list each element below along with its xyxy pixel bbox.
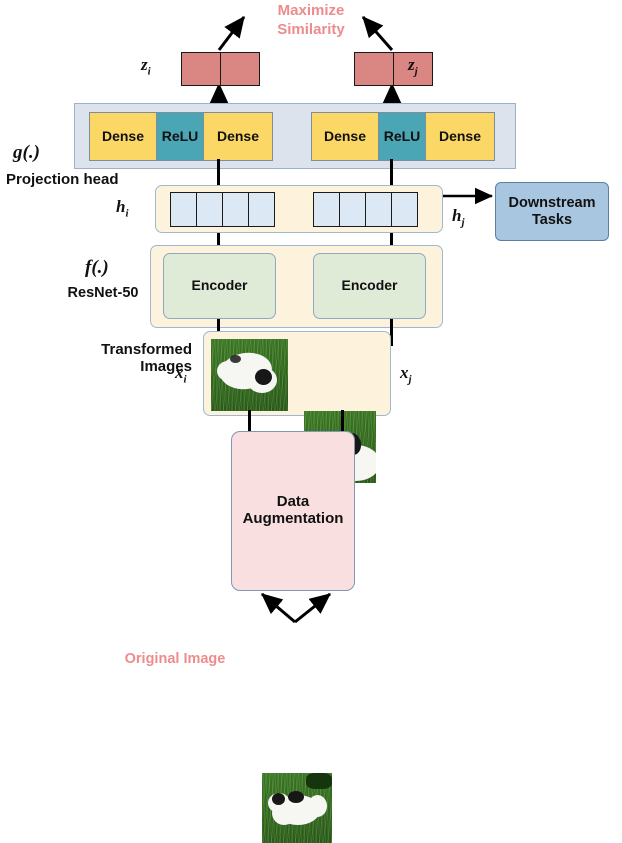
data-augmentation-line1: Data: [277, 494, 310, 511]
xj-label: xj: [400, 363, 412, 385]
zi-vector: [181, 52, 260, 86]
zi-label: zi: [141, 55, 151, 77]
transformed-image-left: [211, 339, 288, 411]
projection-head-left: Dense ReLU Dense: [89, 112, 273, 161]
projection-head-text: Projection head: [6, 171, 119, 188]
encoder-right-label: Encoder: [341, 278, 397, 294]
downstream-tasks-box[interactable]: Downstream Tasks: [495, 182, 609, 241]
relu-label: ReLU: [384, 129, 421, 145]
encoder-right[interactable]: Encoder: [313, 253, 426, 319]
original-image-label: Original Image: [103, 650, 247, 668]
xi-label: xi: [175, 363, 187, 385]
original-image-text: Original Image: [125, 651, 226, 667]
hj-cell: [392, 192, 418, 227]
encoder-left-label: Encoder: [191, 278, 247, 294]
zi-symbol: z: [141, 55, 148, 74]
hj-cell: [340, 192, 366, 227]
hj-subscript: j: [461, 216, 464, 228]
zj-label: zj: [408, 55, 418, 77]
hi-cell: [170, 192, 197, 227]
resnet-label: ResNet-50: [58, 285, 148, 301]
hj-vector: [313, 192, 418, 227]
original-image: [262, 773, 332, 843]
relu-layer-left[interactable]: ReLU: [157, 112, 204, 161]
encoder-fn-label: f(.): [85, 257, 109, 279]
xj-symbol: x: [400, 363, 409, 382]
data-augmentation-line2: Augmentation: [243, 511, 344, 528]
dense-layer-right-2[interactable]: Dense: [426, 112, 495, 161]
projection-head-right: Dense ReLU Dense: [311, 112, 495, 161]
dog-ear-patch: [272, 793, 285, 805]
hi-subscript: i: [125, 207, 128, 219]
foliage-top-right: [306, 773, 332, 789]
hi-label: hi: [116, 197, 129, 219]
zj-cell: [354, 52, 394, 86]
relu-layer-right[interactable]: ReLU: [379, 112, 426, 161]
maximize-similarity-line1: Maximize: [236, 2, 386, 21]
transformed-images-label: Transformed Images: [46, 342, 192, 376]
dog-tail: [308, 795, 327, 817]
dense-layer-left-2[interactable]: Dense: [204, 112, 273, 161]
dense-layer-left-1[interactable]: Dense: [89, 112, 157, 161]
maximize-similarity-label: Maximize Similarity: [236, 2, 386, 40]
arrow-original-to-aug-right: [295, 594, 330, 622]
dog-tail: [217, 361, 239, 381]
xi-symbol: x: [175, 363, 184, 382]
transformed-images-line2: Images: [46, 359, 192, 376]
hi-cell: [197, 192, 223, 227]
dense-label: Dense: [324, 129, 366, 145]
transformed-images-line1: Transformed: [46, 342, 192, 359]
relu-label: ReLU: [162, 129, 199, 145]
zi-cell: [181, 52, 221, 86]
data-augmentation-box[interactable]: Data Augmentation: [231, 431, 355, 591]
hj-label: hj: [452, 206, 465, 228]
hi-vector: [170, 192, 275, 227]
dense-label: Dense: [217, 129, 259, 145]
dense-label: Dense: [439, 129, 481, 145]
simclr-diagram: Maximize Similarity zi zj Dense ReLU Den…: [0, 0, 622, 701]
encoder-left[interactable]: Encoder: [163, 253, 276, 319]
dog-back-patch: [288, 791, 304, 803]
hj-cell: [313, 192, 340, 227]
downstream-tasks-line1: Downstream: [508, 195, 595, 211]
downstream-tasks-line2: Tasks: [532, 212, 572, 228]
zi-subscript: i: [148, 65, 151, 77]
dog-back-patch: [230, 355, 241, 363]
zi-cell: [221, 52, 260, 86]
resnet-text: ResNet-50: [68, 285, 139, 301]
projection-fn-label: g(.): [13, 142, 40, 164]
encoder-fn-text: f(.): [85, 257, 109, 278]
dog-ear-patch: [255, 369, 272, 385]
xj-subscript: j: [409, 373, 412, 385]
arrow-original-to-aug-left: [262, 594, 295, 622]
xi-subscript: i: [184, 373, 187, 385]
zj-subscript: j: [415, 65, 418, 77]
hi-cell: [249, 192, 275, 227]
dense-layer-right-1[interactable]: Dense: [311, 112, 379, 161]
projection-fn-text: g(.): [13, 142, 40, 163]
maximize-similarity-line2: Similarity: [236, 21, 386, 40]
dense-label: Dense: [102, 129, 144, 145]
hi-cell: [223, 192, 249, 227]
zj-vector: [354, 52, 433, 86]
zj-symbol: z: [408, 55, 415, 74]
hj-cell: [366, 192, 392, 227]
projection-head-label: Projection head: [6, 172, 158, 189]
